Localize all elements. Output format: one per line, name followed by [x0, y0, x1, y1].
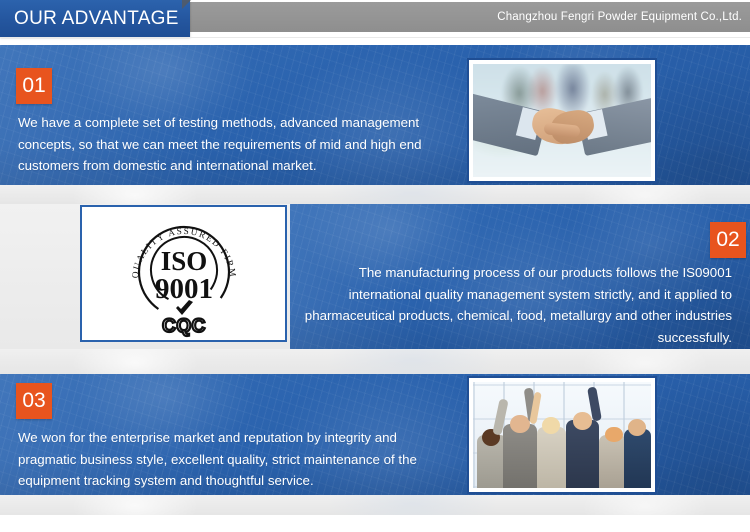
person-5-body: [599, 435, 626, 488]
tab-fold-corner: [182, 0, 191, 9]
person-4-head: [573, 412, 593, 430]
svg-text:ISO: ISO: [160, 246, 207, 276]
person-5-head: [605, 427, 623, 443]
page-title: OUR ADVANTAGE: [14, 0, 179, 37]
person-3-head: [542, 417, 560, 434]
person-4-body: [566, 420, 600, 488]
iso-certificate-card: QUALITY ASSURED FIRM ISO 9001 CQC: [80, 205, 287, 342]
panel-gap-2: [0, 349, 750, 374]
person-2-body: [503, 424, 537, 488]
svg-text:CQC: CQC: [162, 316, 206, 337]
gap-texture: [0, 495, 750, 515]
panel-gap-1: [0, 185, 750, 204]
page-bottom-whitespace: [0, 515, 750, 532]
handshake-photo: [473, 64, 651, 177]
panel-gap-3: [0, 495, 750, 515]
gap-texture: [0, 185, 750, 204]
person-6-body: [624, 429, 651, 488]
advantage-badge-03: 03: [16, 383, 52, 419]
advantage-text-02: The manufacturing process of our product…: [300, 262, 732, 348]
person-6-head: [628, 419, 646, 436]
company-name: Changzhou Fengri Powder Equipment Co.,Lt…: [497, 2, 742, 32]
team-photo-frame: [467, 376, 657, 494]
section-tab-our-advantage[interactable]: OUR ADVANTAGE: [0, 0, 190, 37]
team-celebration-photo: [473, 382, 651, 488]
advantage-text-01: We have a complete set of testing method…: [18, 112, 450, 177]
gap-texture: [0, 349, 750, 374]
advantage-text-03: We won for the enterprise market and rep…: [18, 427, 450, 492]
header-divider: [0, 37, 750, 38]
iso-9001-cqc-icon: QUALITY ASSURED FIRM ISO 9001 CQC: [120, 210, 248, 338]
svg-text:9001: 9001: [155, 273, 213, 305]
our-advantage-page: Changzhou Fengri Powder Equipment Co.,Lt…: [0, 0, 750, 532]
page-header: Changzhou Fengri Powder Equipment Co.,Lt…: [0, 0, 750, 40]
advantage-badge-02: 02: [710, 222, 746, 258]
advantage-badge-01: 01: [16, 68, 52, 104]
handshake-photo-frame: [467, 58, 657, 183]
person-3-body: [537, 427, 565, 488]
